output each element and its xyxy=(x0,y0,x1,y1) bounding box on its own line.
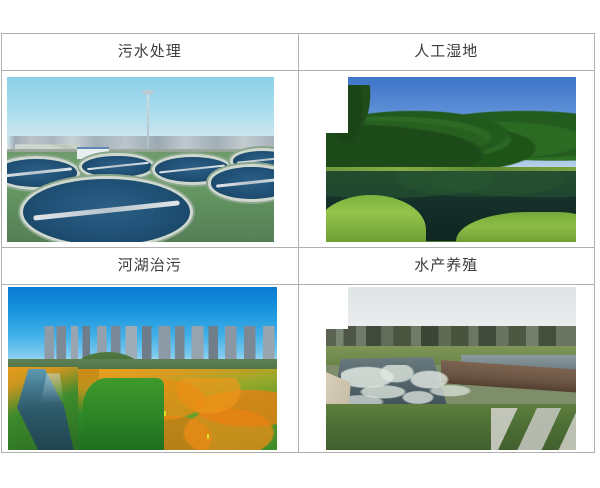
label-aquaculture: 水产养殖 xyxy=(299,248,595,284)
label-row-2: 河湖治污 水产养殖 xyxy=(2,248,595,285)
clarifier-basin xyxy=(211,167,276,198)
main-clarifier-basin xyxy=(23,179,190,242)
photo-row-2 xyxy=(2,285,595,453)
clarifier-basin xyxy=(82,156,152,177)
photo-left-edge xyxy=(326,77,349,133)
cell-river-lake-remediation-photo xyxy=(2,285,299,453)
constructed-wetland-photo xyxy=(326,77,576,242)
green-shrub-belt xyxy=(83,378,164,450)
wastewater-treatment-plant-photo xyxy=(7,77,276,242)
photo-right-edge xyxy=(274,77,276,242)
river-lake-remediation-photo xyxy=(8,287,277,450)
cell-constructed-wetland-label: 人工湿地 xyxy=(298,34,595,71)
label-constructed-wetland: 人工湿地 xyxy=(299,34,595,70)
worker-figure xyxy=(164,411,166,416)
photo-row-1 xyxy=(2,71,595,248)
cell-river-lake-remediation-label: 河湖治污 xyxy=(2,248,299,285)
aquaculture-pond-photo xyxy=(326,287,576,450)
cell-wastewater-treatment-photo xyxy=(2,71,299,248)
label-row-1: 污水处理 人工湿地 xyxy=(2,34,595,71)
concrete-walkway xyxy=(491,408,576,450)
page-root: 污水处理 人工湿地 xyxy=(0,0,600,488)
cell-aquaculture-label: 水产养殖 xyxy=(298,248,595,285)
image-grid-table: 污水处理 人工湿地 xyxy=(1,33,595,453)
label-wastewater-treatment: 污水处理 xyxy=(2,34,298,70)
label-river-lake-remediation: 河湖治污 xyxy=(2,248,298,284)
cell-wastewater-treatment-label: 污水处理 xyxy=(2,34,299,71)
worker-figure xyxy=(207,434,209,439)
cell-aquaculture-photo xyxy=(298,285,595,453)
photo-left-edge xyxy=(326,287,349,329)
cell-constructed-wetland-photo xyxy=(298,71,595,248)
